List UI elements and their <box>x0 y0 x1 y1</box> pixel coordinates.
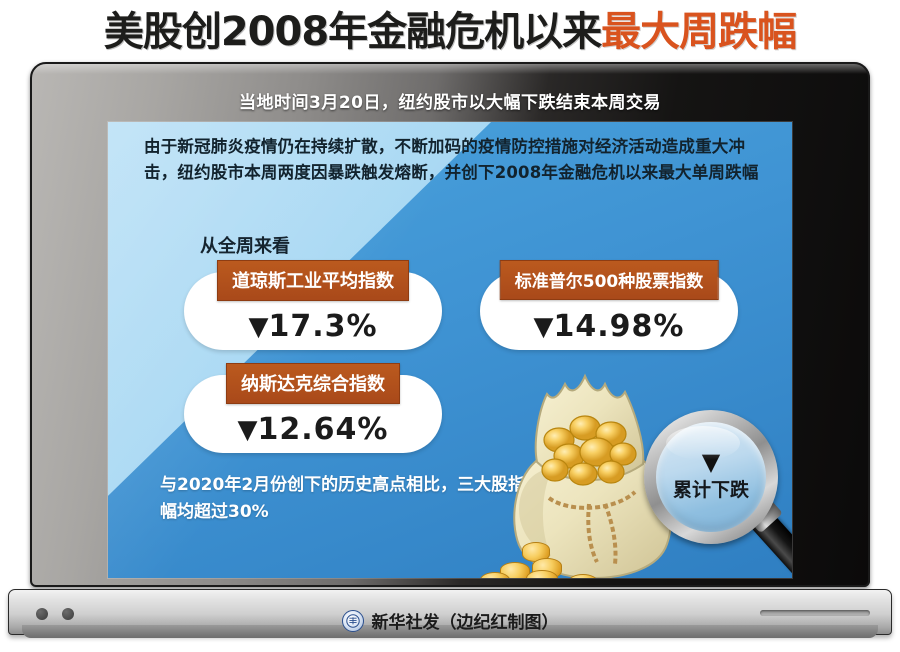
down-arrow-icon: ▼ <box>238 415 258 445</box>
footer-credit-text: 新华社发（边纪红制图） <box>372 608 559 633</box>
week-summary-label: 从全周来看 <box>200 232 290 258</box>
index-name-nasdaq: 纳斯达克综合指数 <box>226 363 400 404</box>
index-card-dow: 道琼斯工业平均指数 ▼17.3% <box>184 272 442 350</box>
index-pct-dow: 17.3% <box>268 309 377 344</box>
subtitle: 当地时间3月20日，纽约股市以大幅下跌结束本周交易 <box>30 82 870 118</box>
infographic-root: 美股创2008年金融危机以来最大周跌幅 当地时间3月20日，纽约股市以大幅下跌结… <box>0 0 900 652</box>
index-pct-sp500: 14.98% <box>554 309 685 344</box>
page-title-main: 美股创2008年金融危机以来 <box>104 9 601 55</box>
index-name-dow: 道琼斯工业平均指数 <box>217 260 409 301</box>
lead-paragraph: 由于新冠肺炎疫情仍在持续扩散，不断加码的疫情防控措施对经济活动造成重大冲击，纽约… <box>144 134 764 186</box>
laptop-illustration: 当地时间3月20日，纽约股市以大幅下跌结束本周交易 由于新冠肺炎疫情仍在持续扩散… <box>0 62 900 652</box>
page-title: 美股创2008年金融危机以来最大周跌幅 <box>0 6 900 58</box>
laptop-screen: 由于新冠肺炎疫情仍在持续扩散，不断加码的疫情防控措施对经济活动造成重大冲击，纽约… <box>108 122 792 578</box>
index-value-nasdaq: ▼12.64% <box>184 412 442 447</box>
index-value-dow: ▼17.3% <box>184 309 442 344</box>
index-name-sp500: 标准普尔500种股票指数 <box>500 260 719 300</box>
lid-gloss <box>30 62 870 74</box>
xinhua-logo-icon <box>342 610 364 632</box>
magnifier-glare <box>666 426 740 460</box>
footer-credit: 新华社发（边纪红制图） <box>0 608 900 633</box>
magnifier-icon: ▼ 累计下跌 <box>644 410 792 578</box>
down-arrow-icon: ▼ <box>534 312 554 342</box>
index-card-sp500: 标准普尔500种股票指数 ▼14.98% <box>480 272 738 350</box>
index-card-nasdaq: 纳斯达克综合指数 ▼12.64% <box>184 375 442 453</box>
down-arrow-icon: ▼ <box>248 312 268 342</box>
xinhua-emblem-svg <box>346 614 360 628</box>
index-value-sp500: ▼14.98% <box>480 309 738 344</box>
magnifier-ring: ▼ 累计下跌 <box>644 410 778 544</box>
page-title-accent: 最大周跌幅 <box>601 9 796 55</box>
index-pct-nasdaq: 12.64% <box>258 412 389 447</box>
magnifier-label: 累计下跌 <box>673 475 749 502</box>
